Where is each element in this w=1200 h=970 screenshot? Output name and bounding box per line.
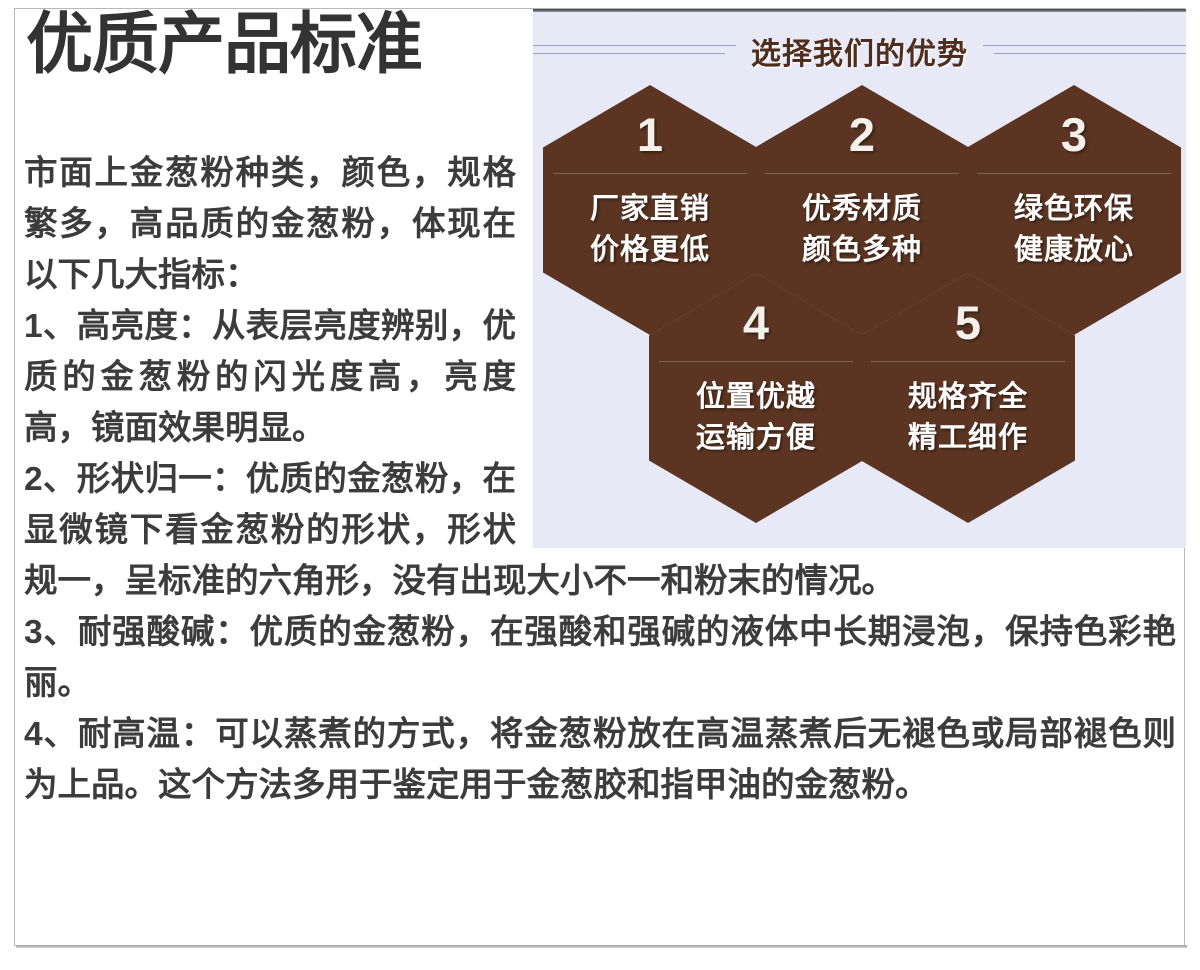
panel-header: 选择我们的优势 [533,29,1186,75]
hexagon-number: 1 [543,111,757,158]
paragraph-item-3: 3、耐强酸碱：优质的金葱粉，在强酸和强碱的液体中长期浸泡，保持色彩艳丽。 [24,607,1176,709]
hexagon-line-1: 绿色环保 [967,189,1181,230]
hexagon-text: 位置优越 运输方便 [649,377,863,459]
hexagon-line-2: 运输方便 [649,418,863,459]
hexagon-line-2: 精工细作 [861,418,1075,459]
hexagon-text: 规格齐全 精工细作 [861,377,1075,459]
hexagon-line-1: 规格齐全 [861,377,1075,418]
page-title: 优质产品标准 [26,10,526,80]
hexagon-line-2: 价格更低 [543,230,757,271]
hexagon-line-1: 厂家直销 [543,189,757,230]
product-standard-infographic: 优质产品标准 市面上金葱粉种类，颜色，规格繁多，高品质的金葱粉，体现在以下几大指… [0,0,1200,970]
hexagon-line-2: 健康放心 [967,230,1181,271]
hexagon-line-2: 颜色多种 [755,230,969,271]
paragraph-item-4: 4、耐高温：可以蒸煮的方式，将金葱粉放在高温蒸煮后无褪色或局部褪色则为上品。这个… [24,709,1176,811]
hexagon-text: 厂家直销 价格更低 [543,189,757,271]
hexagon-number: 3 [967,111,1181,158]
hexagon-text: 优秀材质 颜色多种 [755,189,969,271]
hexagon-line-1: 优秀材质 [755,189,969,230]
advantages-panel: 选择我们的优势 1 厂家直销 价格更低 2 优秀材质 颜色多种 3 绿色环保 健… [533,9,1186,548]
hexagon-divider [765,173,959,174]
hexagon-line-1: 位置优越 [649,377,863,418]
hexagon-text: 绿色环保 健康放心 [967,189,1181,271]
hexagon-divider [659,361,853,362]
advantages-title: 选择我们的优势 [533,29,1186,73]
hexagon-divider [553,173,747,174]
hexagon-number: 2 [755,111,969,158]
panel-top-rule [533,9,1186,12]
hexagon-divider [977,173,1171,174]
hexagon-divider [871,361,1065,362]
frame-bottom-shadow [16,945,1187,948]
